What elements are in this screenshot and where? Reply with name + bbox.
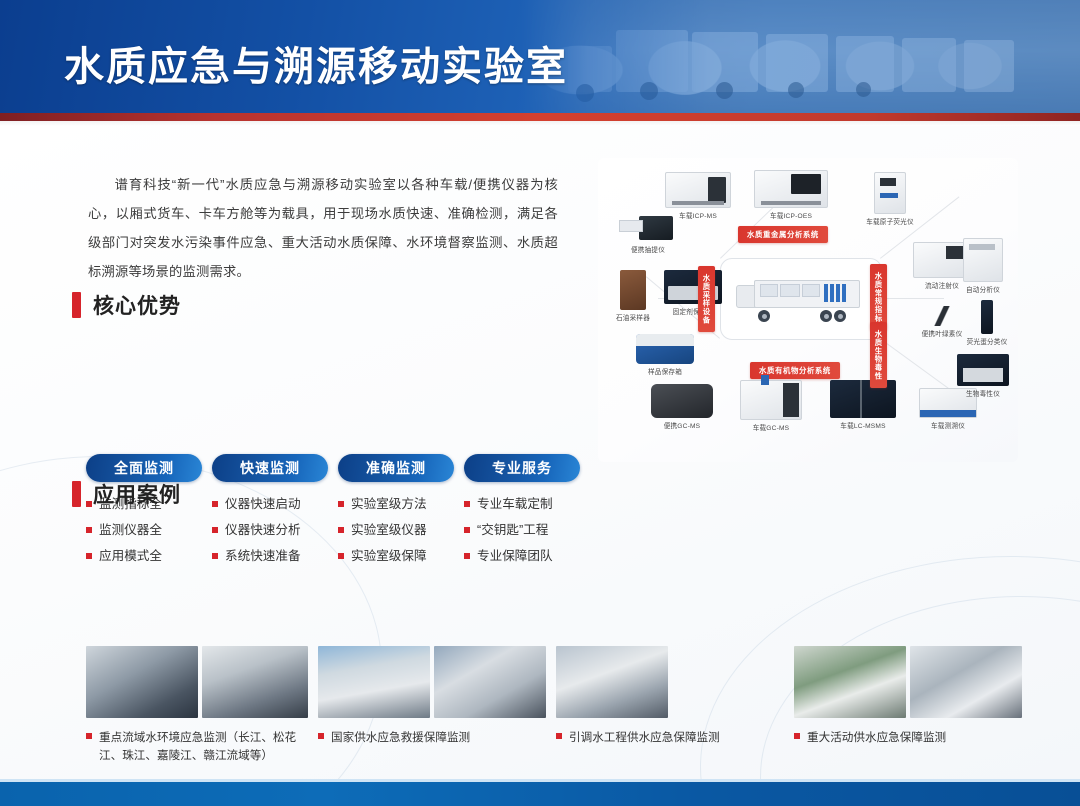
- advantage-pill-comprehensive[interactable]: 全面监测: [86, 454, 202, 482]
- list-item: 专业保障团队: [464, 548, 580, 564]
- list-item-label: 实验室级仪器: [351, 522, 427, 538]
- diagram-node: 自动分析仪: [950, 238, 1016, 294]
- header-banner-photo: [520, 0, 1080, 113]
- bullet-square-icon: [318, 733, 324, 739]
- diagram-node: 样品保存箱: [626, 334, 704, 376]
- list-item: 实验室级仪器: [338, 522, 454, 538]
- bullet-square-icon: [212, 501, 218, 507]
- diagram-connector: [880, 298, 944, 299]
- bullet-square-icon: [86, 527, 92, 533]
- list-item-label: 专业保障团队: [477, 548, 553, 564]
- intro-paragraph: 谱育科技“新一代”水质应急与溯源移动实验室以各种车载/便携仪器为核心，以厢式货车…: [88, 170, 558, 286]
- diagram-node: 车载LC-MSMS: [820, 380, 906, 430]
- advantage-pill-row: 全面监测 快速监测 准确监测 专业服务: [86, 454, 580, 482]
- list-item: 实验室级方法: [338, 496, 454, 512]
- diagram-node: 车载ICP-OES: [748, 170, 834, 220]
- advantage-pill-service[interactable]: 专业服务: [464, 454, 580, 482]
- case-item-3[interactable]: 引调水工程供水应急保障监测: [556, 646, 784, 765]
- list-item-label: “交钥匙”工程: [477, 522, 548, 538]
- bullet-square-icon: [338, 501, 344, 507]
- diagram-node: 车载ICP-MS: [660, 172, 736, 220]
- page-body: 谱育科技“新一代”水质应急与溯源移动实验室以各种车载/便携仪器为核心，以厢式货车…: [0, 126, 1080, 782]
- advantage-column-accurate: 实验室级方法 实验室级仪器 实验室级保障: [338, 496, 454, 564]
- list-item: 专业车载定制: [464, 496, 580, 512]
- list-item-label: 监测仪器全: [99, 522, 162, 538]
- case-photo: [86, 646, 198, 718]
- case-photo: [318, 646, 430, 718]
- page-footer: [0, 782, 1080, 806]
- advantages-heading: 核心优势: [72, 290, 181, 320]
- cases-heading: 应用案例: [72, 479, 181, 509]
- list-item: 监测仪器全: [86, 522, 202, 538]
- mobile-lab-truck-illustration: [736, 276, 864, 320]
- diagram-node: 车载GC-MS: [732, 380, 810, 432]
- case-photos: [556, 646, 784, 718]
- page-header: 水质应急与溯源移动实验室: [0, 0, 1080, 113]
- page-title: 水质应急与溯源移动实验室: [64, 34, 568, 92]
- advantage-column-service: 专业车载定制 “交钥匙”工程 专业保障团队: [464, 496, 580, 564]
- case-photo: [672, 646, 784, 718]
- advantage-column-rapid: 仪器快速启动 仪器快速分析 系统快速准备: [212, 496, 328, 564]
- list-item: 应用模式全: [86, 548, 202, 564]
- bullet-square-icon: [556, 733, 562, 739]
- list-item: 仪器快速分析: [212, 522, 328, 538]
- case-photo: [794, 646, 906, 718]
- bullet-square-icon: [464, 553, 470, 559]
- case-caption: 重点流域水环境应急监测（长江、松花江、珠江、嘉陵江、赣江流域等）: [86, 729, 308, 765]
- diagram-node: 固定剂保存箱: [656, 270, 730, 316]
- case-row: 重点流域水环境应急监测（长江、松花江、珠江、嘉陵江、赣江流域等） 国家供水应急救…: [86, 646, 1022, 765]
- case-photos: [318, 646, 546, 718]
- advantage-pill-rapid[interactable]: 快速监测: [212, 454, 328, 482]
- bullet-square-icon: [338, 527, 344, 533]
- bullet-square-icon: [86, 733, 92, 739]
- list-item-label: 实验室级保障: [351, 548, 427, 564]
- diagram-badge-biotoxicity: 水质生物毒性: [870, 322, 887, 388]
- diagram-node: 便携GC-MS: [642, 384, 722, 430]
- list-item-label: 应用模式全: [99, 548, 162, 564]
- list-item-label: 实验室级方法: [351, 496, 427, 512]
- bullet-square-icon: [464, 527, 470, 533]
- list-item-label: 专业车载定制: [477, 496, 553, 512]
- list-item: 仪器快速启动: [212, 496, 328, 512]
- advantages-heading-text: 核心优势: [93, 290, 181, 320]
- case-caption-text: 重大活动供水应急保障监测: [807, 729, 946, 747]
- case-photos: [794, 646, 1022, 718]
- bullet-square-icon: [464, 501, 470, 507]
- list-item: “交钥匙”工程: [464, 522, 580, 538]
- diagram-node: 车载原子荧光仪: [848, 172, 932, 226]
- diagram-badge-sampling: 水质采样设备: [698, 266, 715, 332]
- diagram-badge-heavy-metal: 水质重金属分析系统: [738, 226, 828, 243]
- header-red-stripe: [0, 113, 1080, 121]
- heading-accent-bar: [72, 292, 81, 318]
- diagram-node: 便携抽提仪: [610, 214, 686, 254]
- case-caption: 重大活动供水应急保障监测: [794, 729, 1022, 747]
- list-item-label: 系统快速准备: [225, 548, 301, 564]
- list-item-label: 仪器快速分析: [225, 522, 301, 538]
- case-caption: 引调水工程供水应急保障监测: [556, 729, 784, 747]
- bullet-square-icon: [86, 553, 92, 559]
- bullet-square-icon: [212, 527, 218, 533]
- list-item-label: 仪器快速启动: [225, 496, 301, 512]
- list-item: 系统快速准备: [212, 548, 328, 564]
- case-item-2[interactable]: 国家供水应急救援保障监测: [318, 646, 546, 765]
- case-photos: [86, 646, 308, 718]
- case-caption-text: 国家供水应急救援保障监测: [331, 729, 470, 747]
- case-caption: 国家供水应急救援保障监测: [318, 729, 546, 747]
- case-photo: [434, 646, 546, 718]
- case-item-4[interactable]: 重大活动供水应急保障监测: [794, 646, 1022, 765]
- diagram-node: 生物毒性仪: [948, 354, 1018, 398]
- advantage-pill-accurate[interactable]: 准确监测: [338, 454, 454, 482]
- diagram-badge-routine: 水质常规指标: [870, 264, 887, 330]
- bullet-square-icon: [794, 733, 800, 739]
- case-photo: [910, 646, 1022, 718]
- cases-heading-text: 应用案例: [93, 479, 181, 509]
- case-photo: [556, 646, 668, 718]
- case-photo: [202, 646, 308, 718]
- bullet-square-icon: [212, 553, 218, 559]
- case-item-1[interactable]: 重点流域水环境应急监测（长江、松花江、珠江、嘉陵江、赣江流域等）: [86, 646, 308, 765]
- heading-accent-bar: [72, 481, 81, 507]
- case-caption-text: 重点流域水环境应急监测（长江、松花江、珠江、嘉陵江、赣江流域等）: [99, 729, 308, 765]
- case-caption-text: 引调水工程供水应急保障监测: [569, 729, 720, 747]
- diagram-node: 荧光蛋分类仪: [956, 300, 1018, 346]
- system-diagram: 车载ICP-MS 车载ICP-OES 车载原子荧光仪 水质重金属分析系统 便携抽…: [598, 158, 1018, 462]
- bullet-square-icon: [338, 553, 344, 559]
- list-item: 实验室级保障: [338, 548, 454, 564]
